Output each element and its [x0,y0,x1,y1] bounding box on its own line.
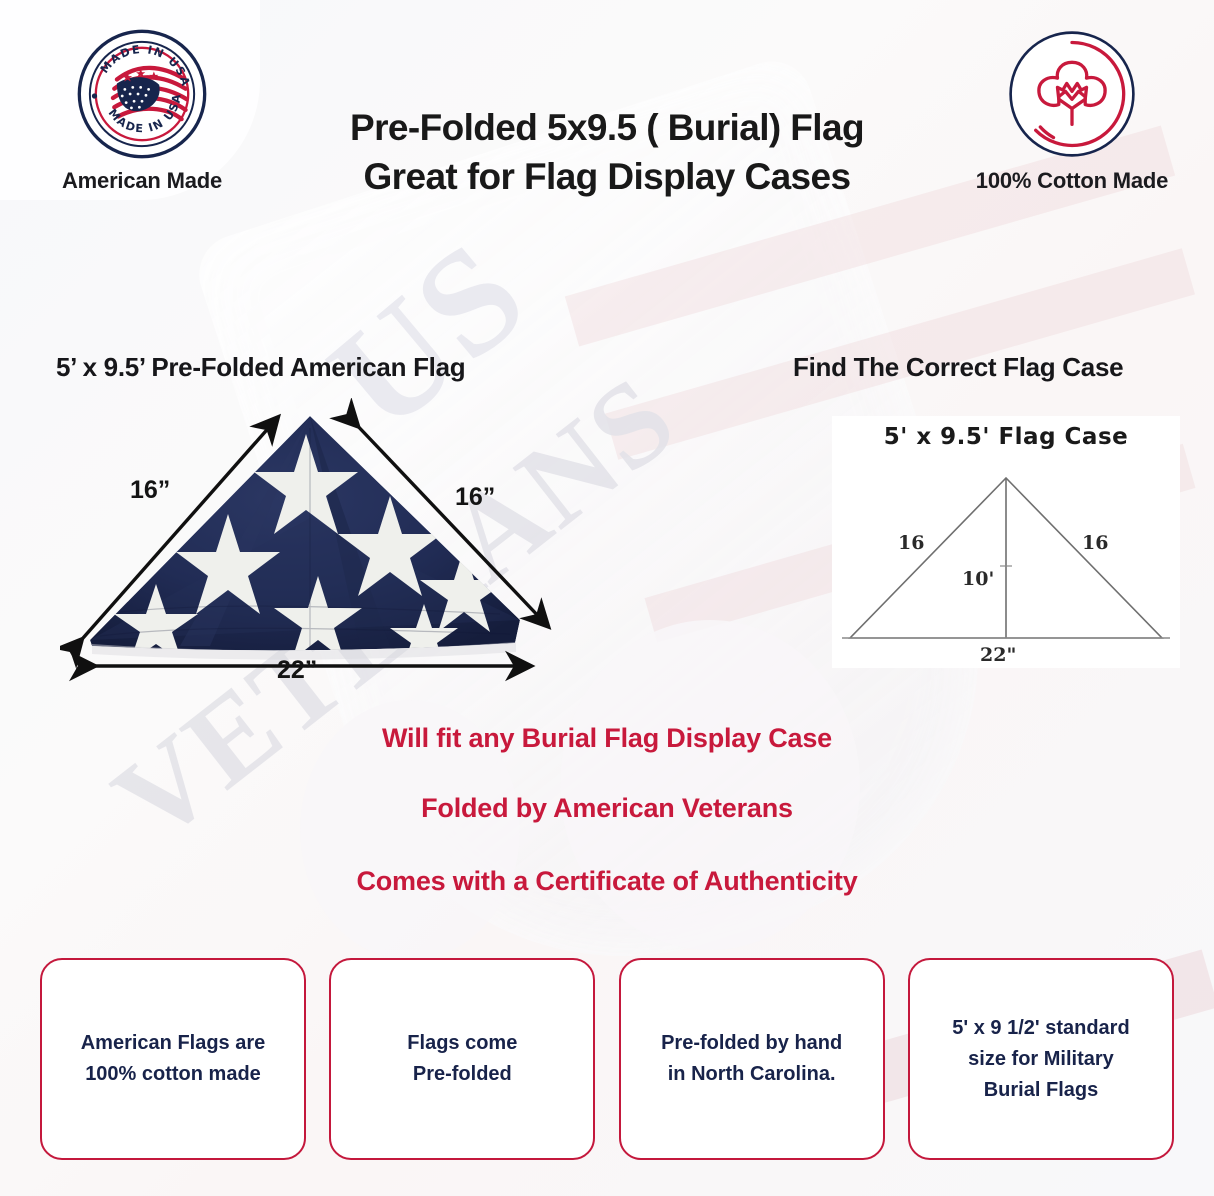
cotton-made-caption: 100% Cotton Made [952,168,1192,194]
american-made-badge: MADE IN USA MADE IN USA American Made [22,28,262,194]
feature-line: Flags come [407,1028,517,1059]
case-dimension-right: 16 [1082,532,1108,554]
page-title: Pre-Folded 5x9.5 ( Burial) Flag Great fo… [250,104,964,202]
dimension-right-16: 16” [455,483,495,512]
feature-box-prefolded: Flags come Pre-folded [329,958,595,1160]
cotton-made-badge: 100% Cotton Made [952,28,1192,194]
dimension-left-16: 16” [130,476,170,505]
feature-text: 5' x 9 1/2' standard size for Military B… [952,1013,1129,1106]
section-heading-case: Find The Correct Flag Case [793,352,1123,383]
feature-line: Pre-folded [407,1059,517,1090]
title-line-2: Great for Flag Display Cases [250,153,964,202]
feature-line: Burial Flags [952,1075,1129,1106]
feature-text: American Flags are 100% cotton made [81,1028,266,1090]
promo-line-3: Comes with a Certificate of Authenticity [0,866,1214,897]
flag-case-triangle-drawing [832,416,1180,668]
flag-case-diagram: 5' x 9.5' Flag Case 16 16 10' 22" [832,416,1180,668]
dimension-base-22: 22” [277,656,317,685]
title-line-1: Pre-Folded 5x9.5 ( Burial) Flag [250,104,964,153]
made-in-usa-stamp-icon: MADE IN USA MADE IN USA [76,28,208,160]
feature-text: Flags come Pre-folded [407,1028,517,1090]
flag-case-diagram-title: 5' x 9.5' Flag Case [832,424,1180,450]
case-dimension-height: 10' [962,568,994,590]
folded-flag-photo [60,398,620,708]
promo-line-2: Folded by American Veterans [0,793,1214,824]
case-dimension-base: 22" [980,644,1016,666]
section-heading-flag: 5’ x 9.5’ Pre-Folded American Flag [56,352,465,383]
feature-box-cotton: American Flags are 100% cotton made [40,958,306,1160]
feature-text: Pre-folded by hand in North Carolina. [661,1028,842,1090]
american-made-caption: American Made [22,168,262,194]
feature-line: American Flags are [81,1028,266,1059]
feature-box-size: 5' x 9 1/2' standard size for Military B… [908,958,1174,1160]
feature-box-row: American Flags are 100% cotton made Flag… [40,958,1174,1160]
feature-line: 5' x 9 1/2' standard [952,1013,1129,1044]
cotton-boll-icon [1006,28,1138,160]
promo-line-1: Will fit any Burial Flag Display Case [0,723,1214,754]
feature-line: size for Military [952,1044,1129,1075]
header: MADE IN USA MADE IN USA American Made Pr… [0,0,1214,240]
case-dimension-left: 16 [898,532,924,554]
feature-line: Pre-folded by hand [661,1028,842,1059]
feature-box-handmade: Pre-folded by hand in North Carolina. [619,958,885,1160]
folded-flag-figure: 16” 16” 22” [60,398,620,708]
feature-line: 100% cotton made [81,1059,266,1090]
infographic-canvas: VETERANS US [0,0,1214,1196]
feature-line: in North Carolina. [661,1059,842,1090]
